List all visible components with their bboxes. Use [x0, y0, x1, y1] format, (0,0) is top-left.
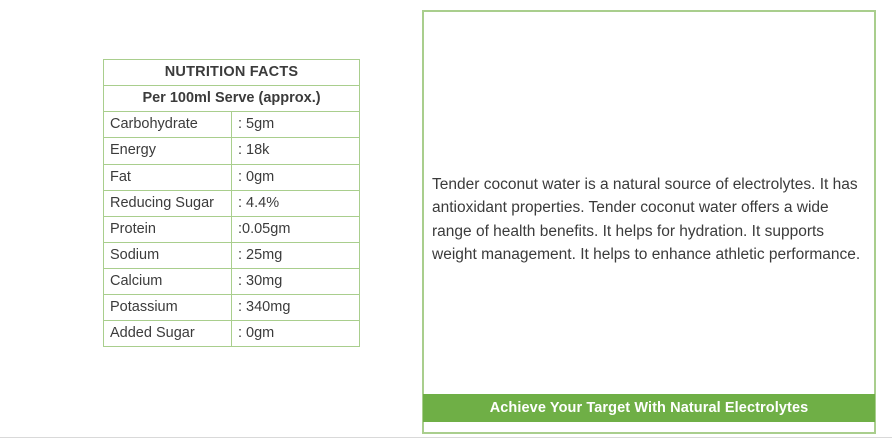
table-row: Carbohydrate : 5gm: [104, 112, 360, 138]
nutrient-value: : 0gm: [232, 321, 360, 347]
bottom-divider: [0, 437, 892, 438]
nutrition-serving-subtitle: Per 100ml Serve (approx.): [104, 86, 360, 112]
nutrient-label: Added Sugar: [104, 321, 232, 347]
nutrient-value: : 4.4%: [232, 190, 360, 216]
table-row: Energy : 18k: [104, 138, 360, 164]
nutrient-label: Protein: [104, 216, 232, 242]
table-row: Reducing Sugar : 4.4%: [104, 190, 360, 216]
nutrient-value: : 0gm: [232, 164, 360, 190]
description-body-text: Tender coconut water is a natural source…: [430, 173, 872, 267]
nutrition-facts-panel: NUTRITION FACTS Per 100ml Serve (approx.…: [103, 59, 360, 347]
table-row: Added Sugar : 0gm: [104, 321, 360, 347]
nutrient-label: Fat: [104, 164, 232, 190]
table-row: Protein :0.05gm: [104, 216, 360, 242]
nutrient-label: Carbohydrate: [104, 112, 232, 138]
table-row: Fat : 0gm: [104, 164, 360, 190]
nutrient-label: Potassium: [104, 295, 232, 321]
table-row: Sodium : 25mg: [104, 242, 360, 268]
achievement-banner: Achieve Your Target With Natural Electro…: [423, 394, 875, 422]
nutrition-facts-table: NUTRITION FACTS Per 100ml Serve (approx.…: [103, 59, 360, 347]
nutrient-value: : 5gm: [232, 112, 360, 138]
nutrient-value: : 30mg: [232, 269, 360, 295]
table-row: Potassium : 340mg: [104, 295, 360, 321]
nutrient-value: : 18k: [232, 138, 360, 164]
nutrient-label: Sodium: [104, 242, 232, 268]
nutrition-facts-title: NUTRITION FACTS: [104, 60, 360, 86]
nutrient-value: : 340mg: [232, 295, 360, 321]
table-row: Calcium : 30mg: [104, 269, 360, 295]
nutrient-value: :0.05gm: [232, 216, 360, 242]
nutrient-label: Energy: [104, 138, 232, 164]
nutrient-value: : 25mg: [232, 242, 360, 268]
nutrition-table-body: NUTRITION FACTS Per 100ml Serve (approx.…: [104, 60, 360, 347]
description-card: Tender coconut water is a natural source…: [422, 10, 876, 434]
nutrition-title-row: NUTRITION FACTS: [104, 60, 360, 86]
nutrient-label: Calcium: [104, 269, 232, 295]
nutrition-subtitle-row: Per 100ml Serve (approx.): [104, 86, 360, 112]
nutrient-label: Reducing Sugar: [104, 190, 232, 216]
